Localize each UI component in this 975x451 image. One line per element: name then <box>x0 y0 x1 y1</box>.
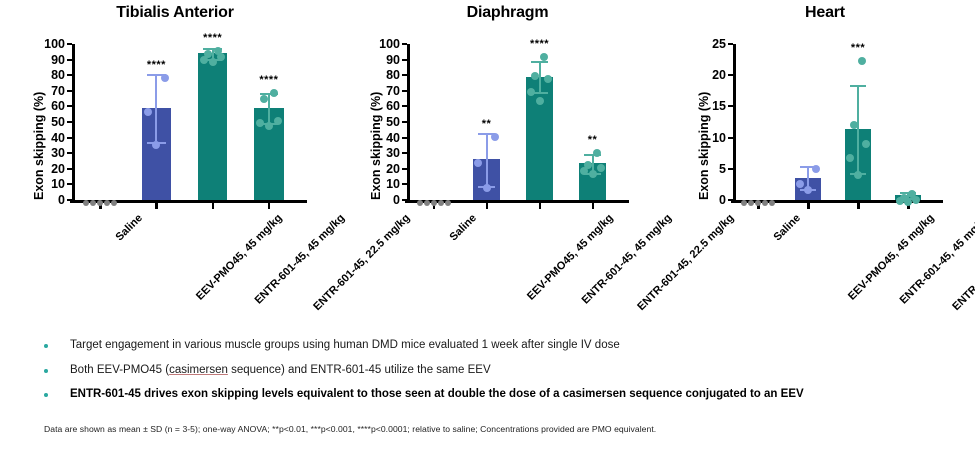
data-point <box>474 159 482 167</box>
y-tick-mark <box>402 74 407 76</box>
y-tick-mark <box>728 105 733 107</box>
significance-marker: ** <box>588 134 598 146</box>
data-point <box>854 171 862 179</box>
significance-marker: *** <box>851 42 865 54</box>
y-tick-mark <box>402 168 407 170</box>
y-tick-mark <box>402 105 407 107</box>
figure-footnote: Data are shown as mean ± SD (n = 3-5); o… <box>44 424 944 434</box>
data-point <box>161 74 169 82</box>
y-tick-label: 20 <box>35 162 65 176</box>
y-tick-label: 0 <box>696 193 726 207</box>
data-point <box>900 194 908 202</box>
data-point <box>762 200 768 206</box>
y-tick-mark <box>402 43 407 45</box>
y-tick-label: 50 <box>370 115 400 129</box>
bullet-item: Both EEV-PMO45 (casimersen sequence) and… <box>44 363 944 379</box>
data-point <box>152 141 160 149</box>
data-point <box>527 88 535 96</box>
data-point <box>812 165 820 173</box>
x-category-label: Saline <box>447 212 478 243</box>
data-point <box>544 75 552 83</box>
data-point <box>90 200 96 206</box>
error-bar-cap <box>850 85 867 87</box>
y-axis-line <box>72 44 75 200</box>
bullet-text: Both EEV-PMO45 (casimersen sequence) and… <box>70 363 491 379</box>
y-tick-label: 80 <box>35 68 65 82</box>
plot-area: 0102030405060708090100Saline****EEV-PMO4… <box>10 36 340 216</box>
x-tick-mark <box>155 202 158 209</box>
y-tick-label: 60 <box>370 99 400 113</box>
y-tick-label: 100 <box>370 37 400 51</box>
y-tick-label: 80 <box>370 68 400 82</box>
charts-container: Tibialis AnteriorExon skipping (%)010203… <box>0 0 975 330</box>
data-point <box>256 119 264 127</box>
data-point <box>593 149 601 157</box>
casimersen-term: casimersen <box>169 364 228 376</box>
significance-marker: ** <box>482 118 492 130</box>
significance-marker: **** <box>259 74 278 86</box>
chart-panel-2: HeartExon skipping (%)0510152025SalineEE… <box>675 0 975 330</box>
y-tick-mark <box>67 59 72 61</box>
y-tick-mark <box>402 183 407 185</box>
chart-panel-0: Tibialis AnteriorExon skipping (%)010203… <box>10 0 340 330</box>
bullet-text: Target engagement in various muscle grou… <box>70 338 620 354</box>
y-tick-mark <box>728 137 733 139</box>
x-tick-mark <box>857 202 860 209</box>
y-tick-label: 40 <box>35 131 65 145</box>
data-point <box>431 200 437 206</box>
y-tick-label: 30 <box>370 146 400 160</box>
data-point <box>858 57 866 65</box>
data-point <box>589 170 597 178</box>
chart-panel-1: DiaphragmExon skipping (%)01020304050607… <box>345 0 670 330</box>
y-tick-label: 30 <box>35 146 65 160</box>
y-tick-label: 10 <box>35 177 65 191</box>
x-tick-mark <box>212 202 215 209</box>
x-tick-mark <box>268 202 271 209</box>
y-tick-label: 100 <box>35 37 65 51</box>
y-tick-mark <box>67 137 72 139</box>
data-point <box>265 122 273 130</box>
bullet-point-icon <box>44 369 48 373</box>
plot-area: 0510152025SalineEEV-PMO45, 45 mg/kg***EN… <box>675 36 975 216</box>
y-tick-label: 10 <box>370 177 400 191</box>
plot-area: 0102030405060708090100Saline**EEV-PMO45,… <box>345 36 670 216</box>
y-tick-mark <box>67 168 72 170</box>
data-point <box>144 108 152 116</box>
y-tick-mark <box>67 43 72 45</box>
y-tick-mark <box>402 137 407 139</box>
bullet-point-icon <box>44 344 48 348</box>
y-tick-mark <box>67 105 72 107</box>
y-tick-label: 25 <box>696 37 726 51</box>
data-point <box>850 121 858 129</box>
x-category-label: Saline <box>771 212 802 243</box>
data-point <box>846 154 854 162</box>
y-tick-mark <box>402 90 407 92</box>
data-point <box>104 200 110 206</box>
data-point <box>483 184 491 192</box>
bullet-list: Target engagement in various muscle grou… <box>44 338 944 412</box>
y-tick-label: 70 <box>35 84 65 98</box>
y-tick-mark <box>67 121 72 123</box>
error-bar <box>486 133 488 186</box>
y-tick-mark <box>67 90 72 92</box>
y-tick-label: 90 <box>370 53 400 67</box>
data-point <box>597 164 605 172</box>
y-tick-label: 0 <box>370 193 400 207</box>
error-bar-cap <box>531 61 549 63</box>
data-point <box>862 140 870 148</box>
data-point <box>804 186 812 194</box>
significance-marker: **** <box>530 38 549 50</box>
y-tick-label: 15 <box>696 99 726 113</box>
data-point <box>260 95 268 103</box>
data-point <box>769 200 775 206</box>
y-tick-label: 0 <box>35 193 65 207</box>
y-tick-label: 60 <box>35 99 65 113</box>
chart-title: Diaphragm <box>345 4 670 22</box>
x-tick-mark <box>539 202 542 209</box>
data-point <box>755 200 761 206</box>
x-tick-mark <box>592 202 595 209</box>
x-tick-mark <box>807 202 810 209</box>
y-tick-label: 90 <box>35 53 65 67</box>
data-point <box>584 161 592 169</box>
data-point <box>270 89 278 97</box>
bar <box>198 53 227 200</box>
significance-marker: **** <box>203 32 222 44</box>
data-point <box>741 200 747 206</box>
chart-title: Tibialis Anterior <box>10 4 340 22</box>
y-tick-label: 50 <box>35 115 65 129</box>
bullet-point-icon <box>44 393 48 397</box>
y-tick-mark <box>728 168 733 170</box>
y-tick-mark <box>67 152 72 154</box>
data-point <box>540 53 548 61</box>
data-point <box>417 200 423 206</box>
data-point <box>204 50 212 58</box>
y-tick-mark <box>67 74 72 76</box>
y-tick-label: 5 <box>696 162 726 176</box>
y-tick-mark <box>67 183 72 185</box>
bullet-item: Target engagement in various muscle grou… <box>44 338 944 354</box>
y-axis-line <box>733 44 736 200</box>
bullet-text: ENTR-601-45 drives exon skipping levels … <box>70 387 804 403</box>
data-point <box>536 97 544 105</box>
significance-marker: **** <box>147 59 166 71</box>
data-point <box>445 200 451 206</box>
data-point <box>491 133 499 141</box>
data-point <box>111 200 117 206</box>
data-point <box>438 200 444 206</box>
data-point <box>214 47 222 55</box>
y-axis-line <box>407 44 410 200</box>
data-point <box>531 72 539 80</box>
y-tick-label: 40 <box>370 131 400 145</box>
data-point <box>908 190 916 198</box>
data-point <box>97 200 103 206</box>
error-bar <box>155 74 157 141</box>
y-tick-mark <box>728 43 733 45</box>
x-tick-mark <box>486 202 489 209</box>
chart-title: Heart <box>675 4 975 22</box>
error-bar <box>857 85 859 174</box>
data-point <box>796 180 804 188</box>
data-point <box>209 58 217 66</box>
data-point <box>83 200 89 206</box>
y-tick-mark <box>402 121 407 123</box>
data-point <box>274 117 282 125</box>
data-point <box>424 200 430 206</box>
y-tick-label: 20 <box>370 162 400 176</box>
y-tick-mark <box>402 59 407 61</box>
x-category-label: Saline <box>114 212 145 243</box>
y-tick-label: 20 <box>696 68 726 82</box>
y-tick-mark <box>728 74 733 76</box>
y-tick-mark <box>402 152 407 154</box>
bullet-item: ENTR-601-45 drives exon skipping levels … <box>44 387 944 403</box>
y-tick-label: 70 <box>370 84 400 98</box>
data-point <box>748 200 754 206</box>
y-tick-label: 10 <box>696 131 726 145</box>
